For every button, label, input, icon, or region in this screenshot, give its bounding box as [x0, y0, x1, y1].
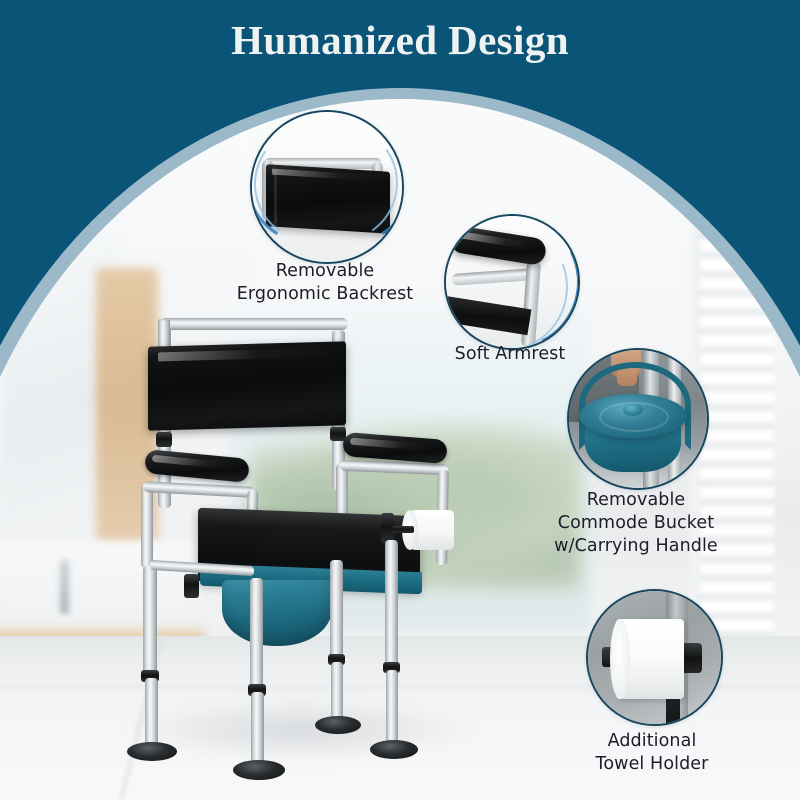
towel-holder-photo-circle[interactable] [586, 589, 723, 726]
backrest-photo-circle[interactable] [250, 110, 404, 264]
backrest-top-corner-left [158, 320, 170, 348]
foot-cap-back-right [370, 740, 418, 759]
callout-commode-bucket-caption: Removable Commode Bucket w/Carrying Hand… [536, 489, 736, 558]
armrest-frame-left-vertical [141, 484, 153, 568]
armrest-photo-circle[interactable] [444, 214, 580, 350]
backrest-top-bar [160, 318, 348, 330]
foot-cap-back-left [315, 716, 361, 734]
leg-back-right-lower [386, 670, 398, 748]
callout-towel-holder-caption: Additional Towel Holder [552, 730, 752, 776]
leg-front-left-lower [145, 678, 158, 750]
foot-cap-front-right [233, 760, 285, 780]
product-feature-banner: Humanized Design Removable Ergonomic Bac… [0, 0, 800, 800]
leg-back-left-lower [331, 662, 343, 724]
leg-back-left-upper [330, 560, 343, 660]
towel-holder-photo [588, 591, 721, 724]
side-rail-collar-left [184, 574, 199, 598]
leg-back-right-upper [385, 540, 398, 666]
leg-front-right-upper [250, 578, 263, 690]
callout-backrest-caption: Removable Ergonomic Backrest [205, 260, 445, 306]
towel-holder-rod [392, 526, 414, 533]
page-title: Humanized Design [0, 19, 800, 62]
commode-bucket [222, 580, 332, 646]
leg-front-right-lower [251, 692, 264, 768]
foot-cap-front-left [127, 742, 177, 761]
leg-front-left-upper [143, 566, 157, 676]
commode-bucket-photo-circle[interactable] [567, 348, 709, 490]
commode-bucket-photo [569, 350, 707, 488]
height-collar-back-left [156, 432, 172, 447]
